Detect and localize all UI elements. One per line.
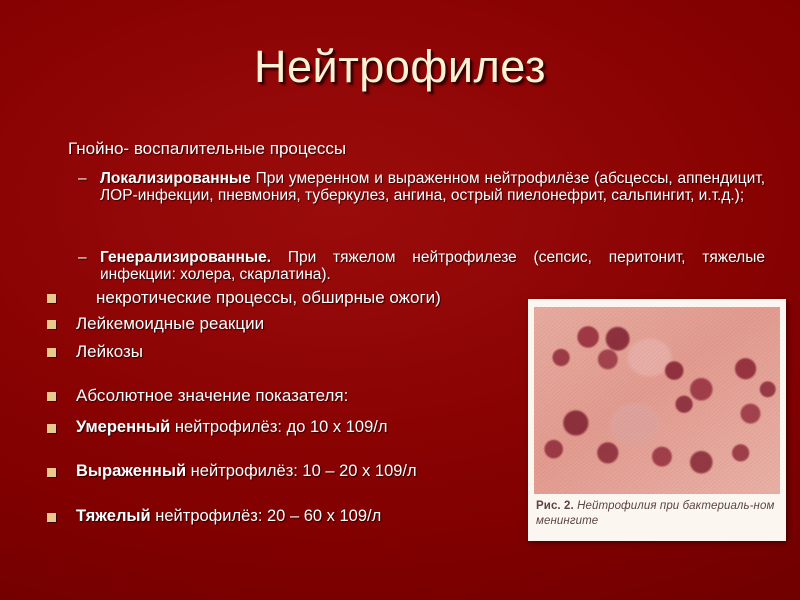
bullet-square-2 <box>47 320 56 329</box>
value-row-2-bold: Выраженный <box>76 462 186 480</box>
micrograph-grain <box>534 307 780 494</box>
value-row-2: Выраженный нейтрофилёз: 10 – 20 х 109/л <box>76 461 417 482</box>
body-heading: Гнойно- воспалительные процессы <box>68 138 346 159</box>
presentation-slide: Нейтрофилез Гнойно- воспалительные проце… <box>0 0 800 600</box>
value-row-1-text: нейтрофилёз: до 10 х 109/л <box>170 418 387 436</box>
value-row-2-text: нейтрофилёз: 10 – 20 х 109/л <box>186 462 417 480</box>
value-row-3-text: нейтрофилёз: 20 – 60 х 109/л <box>151 507 382 525</box>
sub-item-2-bold: Генерализированные. <box>100 249 271 266</box>
slide-title: Нейтрофилез <box>0 40 800 94</box>
value-row-3: Тяжелый нейтрофилёз: 20 – 60 х 109/л <box>76 506 381 527</box>
figure-caption-number: Рис. 2. <box>536 500 574 512</box>
bullet-square-3 <box>47 348 56 357</box>
micrograph-image <box>534 307 780 494</box>
sub-item-1-bold: Локализированные <box>100 170 251 187</box>
bullet-square-7 <box>47 513 56 522</box>
bullet-item-1: некротические процессы, обширные ожоги) <box>96 287 441 308</box>
value-row-1-bold: Умеренный <box>76 418 170 436</box>
bullet-item-3: Лейкозы <box>76 341 143 362</box>
bullet-square-5 <box>47 424 56 433</box>
values-header: Абсолютное значение показателя: <box>76 385 348 406</box>
sub-item-dash-1: – <box>78 170 87 187</box>
sub-item-dash-2: – <box>78 249 87 266</box>
sub-item-1: Локализированные При умеренном и выражен… <box>100 170 765 204</box>
bullet-square-1 <box>47 294 56 303</box>
bullet-item-2: Лейкемоидные реакции <box>76 313 264 334</box>
bullet-square-6 <box>47 468 56 477</box>
figure-caption: Рис. 2. Нейтрофилия при бактериаль-ном м… <box>536 499 776 529</box>
value-row-1: Умеренный нейтрофилёз: до 10 х 109/л <box>76 417 387 438</box>
bullet-square-4 <box>47 392 56 401</box>
figure-neutrophils: Рис. 2. Нейтрофилия при бактериаль-ном м… <box>528 299 786 541</box>
value-row-3-bold: Тяжелый <box>76 507 151 525</box>
sub-item-2: Генерализированные. При тяжелом нейтрофи… <box>100 249 765 283</box>
